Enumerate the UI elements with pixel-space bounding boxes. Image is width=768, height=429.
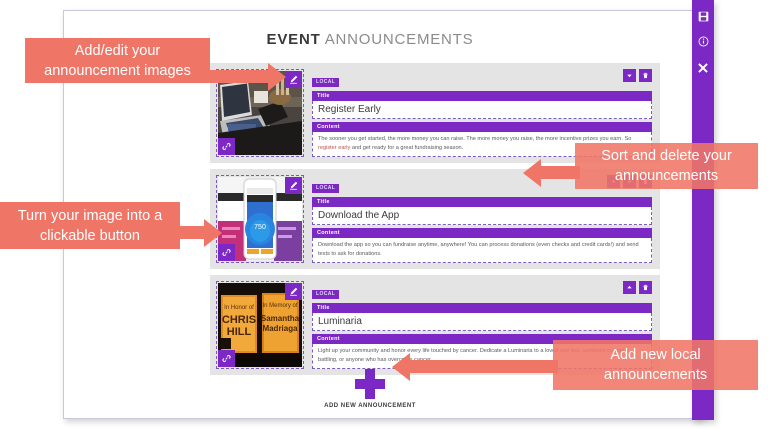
callout-arrow-stem-images	[200, 70, 270, 83]
svg-text:Madriaga: Madriaga	[262, 324, 298, 333]
callout-line-1: Add new local	[610, 345, 700, 365]
screenshot-root: EVENT ANNOUNCEMENTS	[0, 0, 768, 429]
callout-arrow-head-sort	[523, 159, 541, 187]
content-inline-link[interactable]: register early	[318, 145, 350, 151]
announcement-image-cell[interactable]: In Honor of CHRIS HILL In Memory of Sama…	[216, 281, 304, 369]
title-text: Luminaria	[318, 316, 646, 327]
delete-button[interactable]	[639, 69, 652, 82]
edit-image-icon[interactable]	[285, 71, 302, 88]
row-actions	[623, 281, 652, 294]
callout-line-1: Add/edit your	[75, 41, 160, 61]
svg-text:In Memory of: In Memory of	[262, 303, 297, 309]
title-text: Download the App	[318, 210, 646, 221]
title-field-label: Title	[312, 91, 652, 101]
callout-sort-delete-text: Sort and delete your announcements	[575, 143, 758, 189]
svg-text:750: 750	[254, 224, 266, 231]
content-field[interactable]: Content Download the app so you can fund…	[312, 228, 652, 263]
edit-image-icon[interactable]	[285, 283, 302, 300]
callout-line-1: Sort and delete your	[601, 146, 732, 166]
row-actions	[623, 69, 652, 82]
svg-text:CHRIS: CHRIS	[222, 314, 256, 326]
title-field-label: Title	[312, 303, 652, 313]
move-up-button[interactable]	[623, 281, 636, 294]
local-badge: LOCAL	[312, 184, 339, 193]
callout-add-edit-images: Add/edit your announcement images	[25, 38, 210, 83]
callout-line-2: announcements	[604, 365, 707, 385]
callout-arrow-head-button	[204, 219, 222, 247]
svg-text:Samantha: Samantha	[261, 314, 300, 323]
move-down-button[interactable]	[623, 69, 636, 82]
callout-arrow-stem-sort	[540, 166, 580, 179]
title-field-label: Title	[312, 197, 652, 207]
page-title-strong: EVENT	[267, 31, 321, 48]
content-text-before: The sooner you get started, the more mon…	[318, 136, 631, 142]
title-field[interactable]: Title Register Early	[312, 91, 652, 119]
title-field[interactable]: Title Luminaria	[312, 303, 652, 331]
svg-text:In Honor of: In Honor of	[224, 305, 254, 311]
callout-add-new-local-text: Add new local announcements	[553, 340, 758, 390]
callout-clickable-button: Turn your image into a clickable button	[0, 202, 180, 249]
title-field-value[interactable]: Luminaria	[312, 313, 652, 331]
callout-arrow-stem-add	[408, 360, 558, 373]
callout-line-1: Turn your image into a	[18, 206, 163, 226]
info-icon[interactable]	[692, 31, 714, 52]
local-badge: LOCAL	[312, 290, 339, 299]
callout-arrow-head-add	[392, 353, 410, 381]
announcement-list: LOCAL Title Register Early	[210, 63, 660, 381]
callout-arrow-head-images	[268, 63, 286, 91]
title-field-value[interactable]: Download the App	[312, 207, 652, 225]
title-text: Register Early	[318, 104, 646, 115]
title-field-value[interactable]: Register Early	[312, 101, 652, 119]
local-badge: LOCAL	[312, 78, 339, 87]
svg-text:HILL: HILL	[227, 326, 252, 338]
edit-image-icon[interactable]	[285, 177, 302, 194]
announcement-image-cell[interactable]: 750	[216, 175, 304, 263]
plus-icon[interactable]	[355, 369, 385, 399]
image-link-icon[interactable]	[218, 350, 235, 367]
content-field-value[interactable]: Download the app so you can fundraise an…	[312, 238, 652, 263]
add-new-announcement-label: ADD NEW ANNOUNCEMENT	[64, 403, 676, 409]
content-text-after: and get ready for a great fundraising se…	[350, 145, 463, 151]
save-icon[interactable]	[692, 6, 714, 27]
title-field[interactable]: Title Download the App	[312, 197, 652, 225]
content-field-label: Content	[312, 228, 652, 238]
page-title-rest: ANNOUNCEMENTS	[321, 31, 474, 48]
delete-button[interactable]	[639, 281, 652, 294]
content-text: Download the app so you can fundraise an…	[318, 241, 646, 259]
callout-line-2: clickable button	[40, 226, 140, 246]
callout-line-2: announcement images	[44, 61, 191, 81]
callout-line-2: announcements	[615, 166, 718, 186]
content-text-before: Download the app so you can fundraise an…	[318, 242, 639, 257]
image-link-icon[interactable]	[218, 244, 235, 261]
image-link-icon[interactable]	[218, 138, 235, 155]
content-field-label: Content	[312, 122, 652, 132]
close-icon[interactable]	[692, 57, 714, 78]
